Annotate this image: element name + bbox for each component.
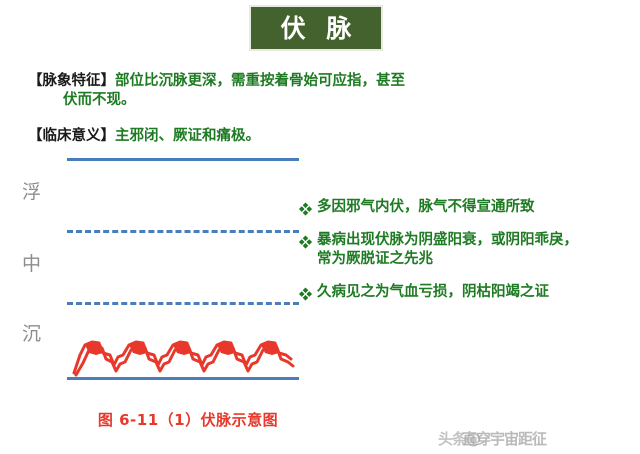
feature-value-line1: 部位比沉脉更深，需重按着骨始可应指，甚至 [115,73,405,89]
bullet-text: 暴病出现伏脉为阴盛阳衰，或阴阳乖戾， 常为厥脱证之先兆 [317,231,578,269]
pulse-level-line-zhong-dashed [67,230,299,233]
bullet-list: 多因邪气内伏，脉气不得宣通所致 暴病出现伏脉为阴盛阳衰，或阴阳乖戾， 常为厥脱证… [298,198,638,316]
axis-label-zhong: 中 [22,255,41,274]
list-item: 久病见之为气血亏损，阴枯阳竭之证 [298,283,638,302]
feature-paragraph-line2: 伏而不现。 [63,91,136,110]
axis-label-fu: 浮 [22,183,41,202]
axis-label-chen: 沉 [22,325,41,344]
bullet-text: 多因邪气内伏，脉气不得宣通所致 [317,198,535,217]
clinical-paragraph: 【临床意义】主邪闭、厥证和痛极。 [28,127,260,146]
bullet-text: 久病见之为气血亏损，阴枯阳竭之证 [317,283,549,302]
clinical-value: 主邪闭、厥证和痛极。 [115,128,260,144]
pulse-level-line-chen-dashed [67,302,299,305]
clover-diamond-bullet-icon [298,233,313,251]
feature-value-line2: 伏而不现。 [63,92,136,108]
clinical-label: 【临床意义】 [28,128,115,144]
feature-label: 【脉象特征】 [28,73,115,89]
clover-diamond-bullet-icon [298,285,313,303]
list-item: 暴病出现伏脉为阴盛阳衰，或阴阳乖戾， 常为厥脱证之先兆 [298,231,638,269]
list-item: 多因邪气内伏，脉气不得宣通所致 [298,198,638,217]
watermark-overlay-text: 直穿宇宙距征 [462,428,546,449]
feature-paragraph: 【脉象特征】部位比沉脉更深，需重按着骨始可应指，甚至 [28,72,405,91]
pulse-level-line-fu-solid [67,158,299,161]
clover-diamond-bullet-icon [298,200,313,218]
slide-root: 伏 脉 【脉象特征】部位比沉脉更深，需重按着骨始可应指，甚至 伏而不现。 【临床… [0,0,640,454]
pulse-waveform-chart [72,333,297,379]
page-title: 伏 脉 [275,16,358,41]
figure-caption: 图 6-11（1）伏脉示意图 [72,409,304,430]
title-banner: 伏 脉 [249,5,383,51]
